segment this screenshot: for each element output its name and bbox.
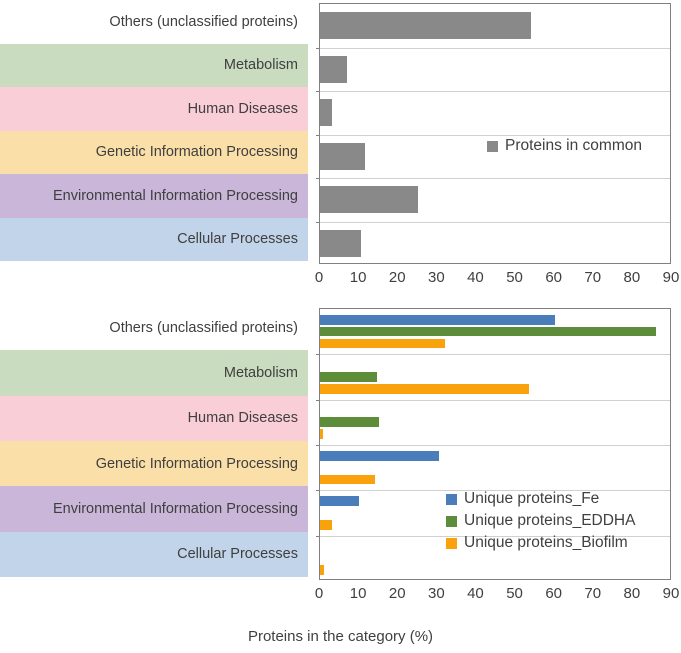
bar-slot xyxy=(320,99,670,126)
bar-4-0 xyxy=(320,186,418,213)
category-label-1: Metabolism xyxy=(0,350,308,395)
category-label-text: Genetic Information Processing xyxy=(96,144,298,160)
legend-item-1[interactable]: Unique proteins_EDDHA xyxy=(446,512,635,530)
bar-group-4 xyxy=(320,178,670,222)
bar-slot xyxy=(320,326,670,338)
legend-label: Unique proteins_Fe xyxy=(464,490,599,508)
panel-b-legend: Unique proteins_FeUnique proteins_EDDHAU… xyxy=(446,490,635,556)
bar-slot xyxy=(320,230,670,257)
x-tick-label-10: 10 xyxy=(350,269,367,286)
bar-2-2 xyxy=(320,429,323,439)
panel-b: B Others (unclassified proteins)Metaboli… xyxy=(0,300,681,613)
bar-3-2 xyxy=(320,475,375,485)
legend-swatch-icon xyxy=(446,538,457,549)
legend-item-2[interactable]: Unique proteins_Biofilm xyxy=(446,534,635,552)
x-tick-label-50: 50 xyxy=(506,585,523,602)
category-label-text: Metabolism xyxy=(224,365,298,381)
bar-4-2 xyxy=(320,520,332,530)
category-label-0: Others (unclassified proteins) xyxy=(0,0,308,44)
bar-3-0 xyxy=(320,143,365,170)
legend-label: Unique proteins_Biofilm xyxy=(464,534,628,552)
panel-a-category-labels: Others (unclassified proteins)Metabolism… xyxy=(0,0,308,261)
legend-label: Proteins in common xyxy=(505,137,642,155)
category-label-text: Human Diseases xyxy=(188,101,298,117)
x-tick-label-30: 30 xyxy=(428,585,445,602)
bar-slot xyxy=(320,405,670,417)
bar-slot xyxy=(320,474,670,486)
legend-swatch-icon xyxy=(446,494,457,505)
legend-swatch-icon xyxy=(446,516,457,527)
x-tick-label-60: 60 xyxy=(545,585,562,602)
x-axis-title: Proteins in the category (%) xyxy=(0,628,681,645)
category-label-1: Metabolism xyxy=(0,44,308,88)
bar-0-0 xyxy=(320,12,531,39)
bar-0-2 xyxy=(320,339,445,349)
bar-slot xyxy=(320,416,670,428)
category-label-text: Cellular Processes xyxy=(177,231,298,247)
x-tick-label-50: 50 xyxy=(506,269,523,286)
category-label-0: Others (unclassified proteins) xyxy=(0,305,308,350)
bar-0-1 xyxy=(320,327,656,337)
category-label-text: Others (unclassified proteins) xyxy=(109,320,298,336)
panel-a-legend: Proteins in common xyxy=(487,137,642,159)
bar-slot xyxy=(320,371,670,383)
bar-0-0 xyxy=(320,315,555,325)
bar-3-0 xyxy=(320,451,439,461)
panel-a-plot-area xyxy=(319,3,671,264)
panel-a-x-axis: 0102030405060708090 xyxy=(0,269,681,291)
bar-group-0 xyxy=(320,4,670,48)
category-label-text: Genetic Information Processing xyxy=(96,456,298,472)
bar-slot xyxy=(320,12,670,39)
bar-slot xyxy=(320,462,670,474)
legend-label: Unique proteins_EDDHA xyxy=(464,512,635,530)
bar-slot xyxy=(320,383,670,395)
legend-item-0[interactable]: Unique proteins_Fe xyxy=(446,490,635,508)
bar-1-0 xyxy=(320,56,347,83)
bar-group-2 xyxy=(320,400,670,445)
panel-a: A Others (unclassified proteins)Metaboli… xyxy=(0,0,681,295)
bar-4-0 xyxy=(320,496,359,506)
bar-group-3 xyxy=(320,445,670,490)
bar-2-0 xyxy=(320,99,332,126)
bar-slot xyxy=(320,359,670,371)
x-tick-label-0: 0 xyxy=(315,585,323,602)
bar-5-0 xyxy=(320,230,361,257)
bar-slot xyxy=(320,314,670,326)
bar-1-2 xyxy=(320,384,529,394)
category-label-3: Genetic Information Processing xyxy=(0,441,308,486)
x-tick-label-30: 30 xyxy=(428,269,445,286)
x-tick-label-20: 20 xyxy=(389,269,406,286)
x-tick-label-60: 60 xyxy=(545,269,562,286)
bar-5-2 xyxy=(320,565,324,575)
bar-slot xyxy=(320,428,670,440)
bar-slot xyxy=(320,56,670,83)
panel-b-category-labels: Others (unclassified proteins)Metabolism… xyxy=(0,305,308,577)
category-label-4: Environmental Information Processing xyxy=(0,486,308,531)
bar-slot xyxy=(320,564,670,576)
x-tick-label-10: 10 xyxy=(350,585,367,602)
category-label-text: Human Diseases xyxy=(188,410,298,426)
panel-b-x-axis: 0102030405060708090 xyxy=(0,585,681,607)
x-tick-label-40: 40 xyxy=(467,585,484,602)
bar-slot xyxy=(320,450,670,462)
category-label-5: Cellular Processes xyxy=(0,218,308,262)
category-label-text: Metabolism xyxy=(224,57,298,73)
category-label-text: Environmental Information Processing xyxy=(53,188,298,204)
x-tick-label-70: 70 xyxy=(584,585,601,602)
x-tick-label-90: 90 xyxy=(663,585,680,602)
category-label-5: Cellular Processes xyxy=(0,532,308,577)
bar-group-0 xyxy=(320,309,670,354)
bar-slot xyxy=(320,338,670,350)
bar-group-1 xyxy=(320,354,670,399)
bar-slot xyxy=(320,186,670,213)
legend-item-0[interactable]: Proteins in common xyxy=(487,137,642,155)
category-label-text: Others (unclassified proteins) xyxy=(109,14,298,30)
x-tick-label-20: 20 xyxy=(389,585,406,602)
legend-swatch-icon xyxy=(487,141,498,152)
x-tick-label-80: 80 xyxy=(624,269,641,286)
x-tick-label-0: 0 xyxy=(315,269,323,286)
category-label-2: Human Diseases xyxy=(0,396,308,441)
x-tick-label-90: 90 xyxy=(663,269,680,286)
x-tick-label-40: 40 xyxy=(467,269,484,286)
bar-1-1 xyxy=(320,372,377,382)
category-label-text: Environmental Information Processing xyxy=(53,501,298,517)
bar-group-2 xyxy=(320,91,670,135)
bar-group-5 xyxy=(320,222,670,266)
x-tick-label-80: 80 xyxy=(624,585,641,602)
category-label-text: Cellular Processes xyxy=(177,546,298,562)
bar-group-1 xyxy=(320,48,670,92)
bar-2-1 xyxy=(320,417,379,427)
category-label-4: Environmental Information Processing xyxy=(0,174,308,218)
category-label-3: Genetic Information Processing xyxy=(0,131,308,175)
category-label-2: Human Diseases xyxy=(0,87,308,131)
x-tick-label-70: 70 xyxy=(584,269,601,286)
